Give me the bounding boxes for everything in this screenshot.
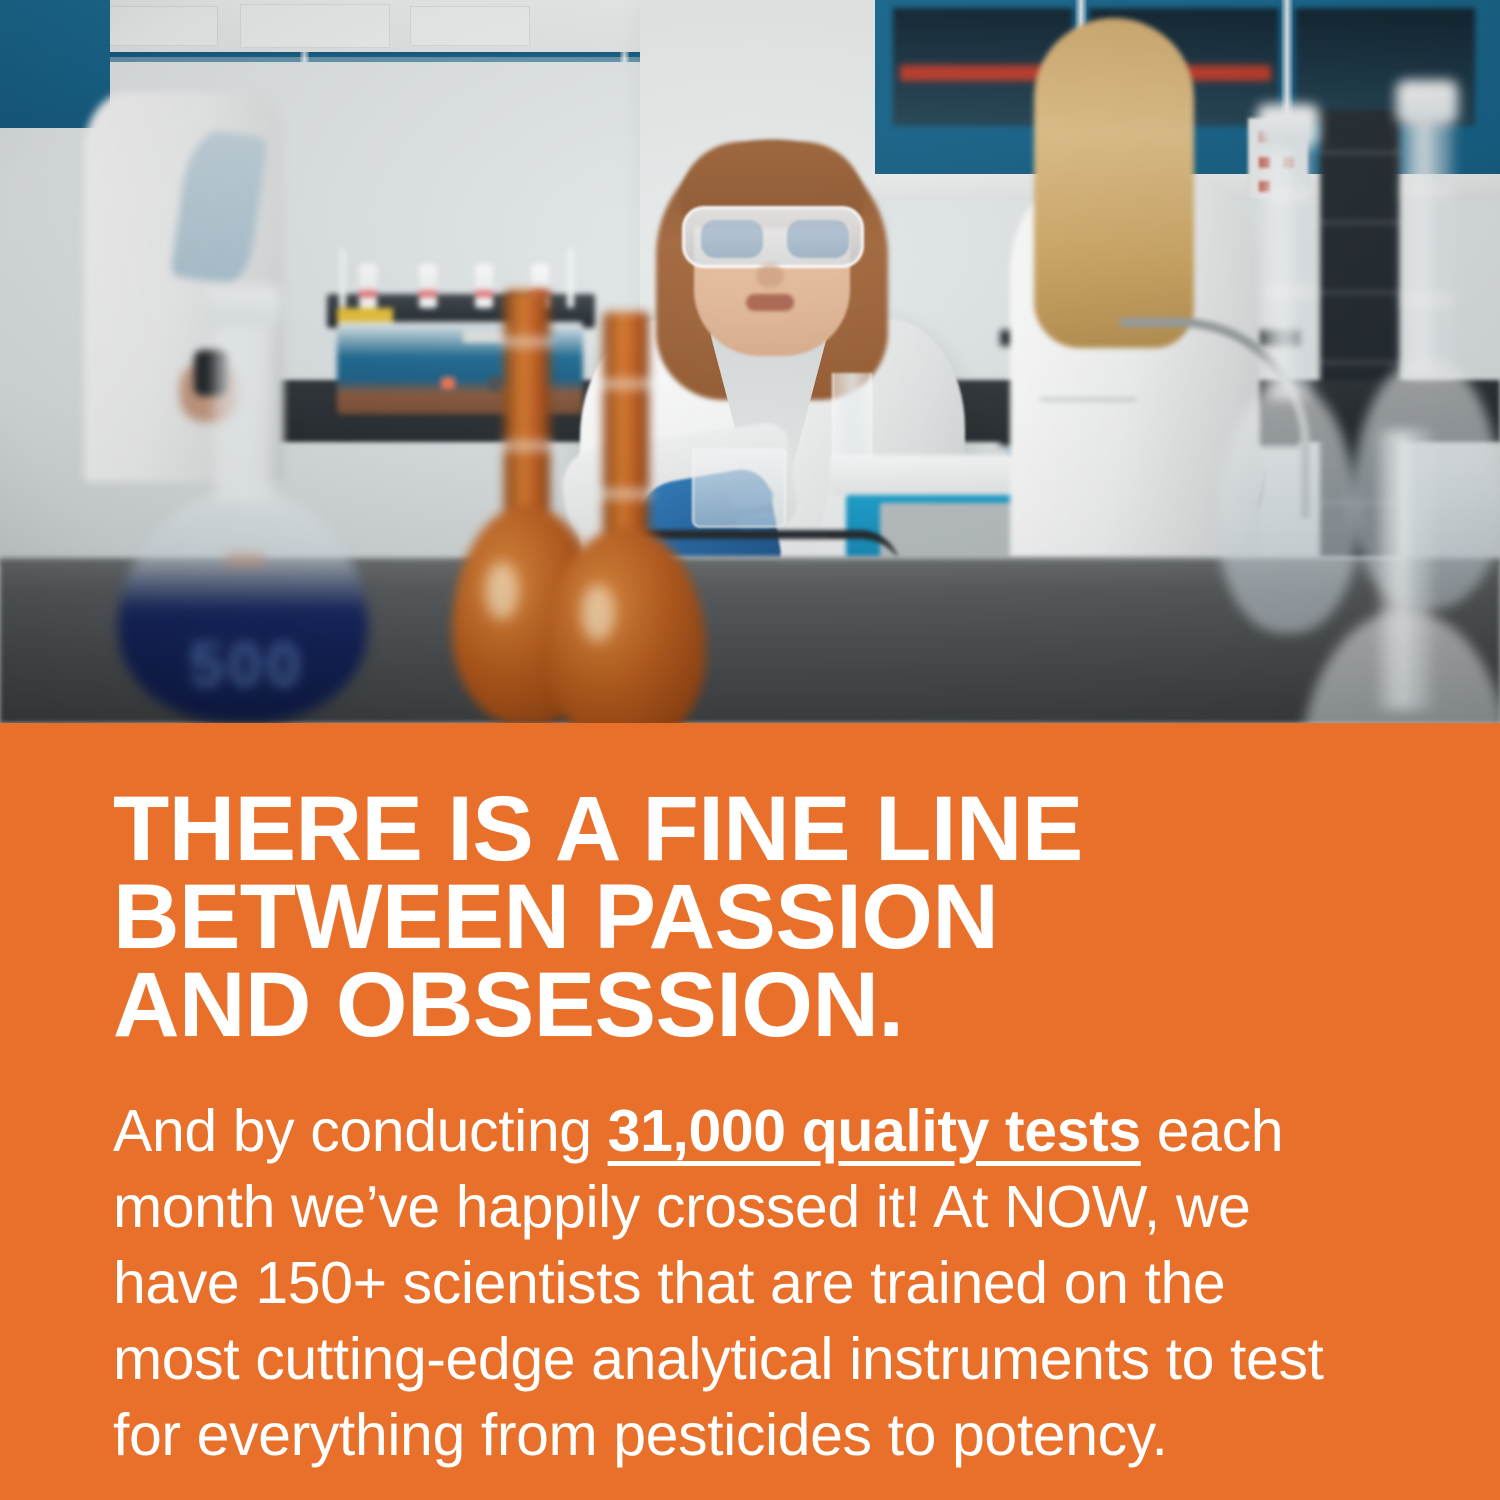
- safety-goggles-icon: [682, 206, 864, 268]
- nose: [756, 264, 784, 288]
- flask-neck: [603, 312, 649, 542]
- upper-left-cabinet: [80, 0, 640, 52]
- flask-graduation-mark: [1263, 192, 1313, 200]
- hair: [1034, 18, 1194, 348]
- glass-highlight: [485, 562, 519, 620]
- flask-graduation-mark: [1402, 186, 1452, 194]
- shelf-box: [98, 6, 218, 46]
- flask-graduation-mark: [600, 378, 652, 390]
- rack-rung: [1320, 150, 1400, 155]
- flask-stopper: [1257, 104, 1319, 148]
- mouth: [746, 294, 794, 311]
- probe-rod: [339, 248, 346, 308]
- sample-vial: [419, 264, 437, 308]
- goggle-lens: [787, 220, 849, 258]
- glass-highlight: [581, 584, 615, 642]
- body-paragraph: And by conducting 31,000 quality tests e…: [113, 1093, 1363, 1473]
- quality-tests-highlight: 31,000 quality tests: [608, 1098, 1141, 1164]
- flask-neck: [1262, 120, 1314, 400]
- control-knob: [487, 376, 503, 392]
- flask-graduation-mark: [501, 336, 553, 348]
- body-text-before: And by conducting: [113, 1098, 608, 1164]
- flask-graduation-mark: [1402, 296, 1452, 304]
- sample-vial: [475, 264, 493, 308]
- rack-rung: [1320, 290, 1400, 295]
- beaker: [692, 448, 786, 528]
- shelf-box: [240, 4, 390, 48]
- flask-stopper: [1396, 80, 1458, 124]
- blue-500ml-flask: 500: [118, 300, 368, 723]
- flask-graduation-mark: [600, 488, 652, 500]
- flask-graduation-mark: [501, 440, 553, 452]
- flask-neck: [214, 300, 272, 500]
- lab-photo: 500: [0, 0, 1500, 723]
- flask-stopper: [206, 286, 280, 326]
- status-led: [441, 377, 455, 389]
- flask-neck: [504, 290, 550, 520]
- orange-message-panel: THERE IS A FINE LINE BETWEEN PASSION AND…: [0, 723, 1500, 1500]
- shelf-box: [410, 6, 530, 46]
- goggle-lens: [701, 220, 763, 258]
- flask-neck: [1401, 96, 1453, 376]
- page-title: THERE IS A FINE LINE BETWEEN PASSION AND…: [113, 785, 1380, 1049]
- rack-rung: [1320, 220, 1400, 225]
- rack-rung: [1320, 360, 1400, 365]
- promo-poster: 500 THERE IS A FINE LINE BETWEEN PASSION…: [0, 0, 1500, 1500]
- flask-volume-label: 500: [154, 628, 340, 704]
- flask-graduation-mark: [1263, 288, 1313, 296]
